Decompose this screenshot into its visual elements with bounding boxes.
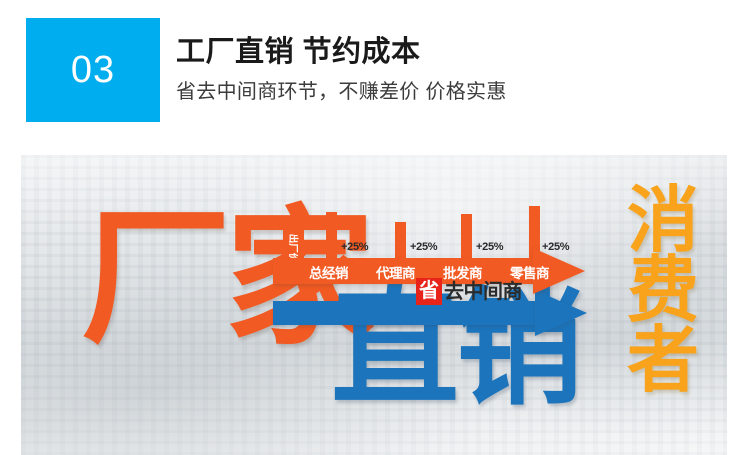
direct-sale-arrow-head [535,290,587,336]
skip-middleman-text: 去中间商 [444,282,522,302]
section-header: 03 工厂直销 节约成本 省去中间商环节，不赚差价 价格实惠 [0,0,748,150]
markup-bar-3 [461,214,472,258]
step-number-label: 03 [71,49,115,92]
chain-label-distributor: 总经销 [309,262,348,282]
consumer-char-1: 消 [617,187,709,257]
header-text-block: 工厂直销 节约成本 省去中间商环节，不赚差价 价格实惠 [176,36,736,104]
page-title: 工厂直销 节约成本 [176,36,736,69]
direct-sale-arrow-shaft [273,301,543,325]
markup-bar-1 [326,212,337,258]
chain-label-agent: 代理商 [376,262,415,282]
markup-label-1: +25% [341,241,368,253]
consumer-char-2: 费 [617,257,709,327]
markup-bar-2 [395,222,406,258]
markup-label-3: +25% [476,241,503,253]
supply-chain-illustration: 厂家 +25% +25% +25% +25% 出厂价 总经销 代理商 批发商 零… [21,155,727,455]
skip-middleman-highlight: 省 [416,278,442,305]
markup-label-4: +25% [542,241,569,253]
consumer-vertical-text: 消 费 者 [617,187,709,396]
markup-label-2: +25% [410,241,437,253]
consumer-char-3: 者 [617,327,709,397]
page-subtitle: 省去中间商环节，不赚差价 价格实惠 [176,80,736,104]
step-number-badge: 03 [26,18,160,122]
skip-middleman-badge: 省 去中间商 [416,279,522,304]
